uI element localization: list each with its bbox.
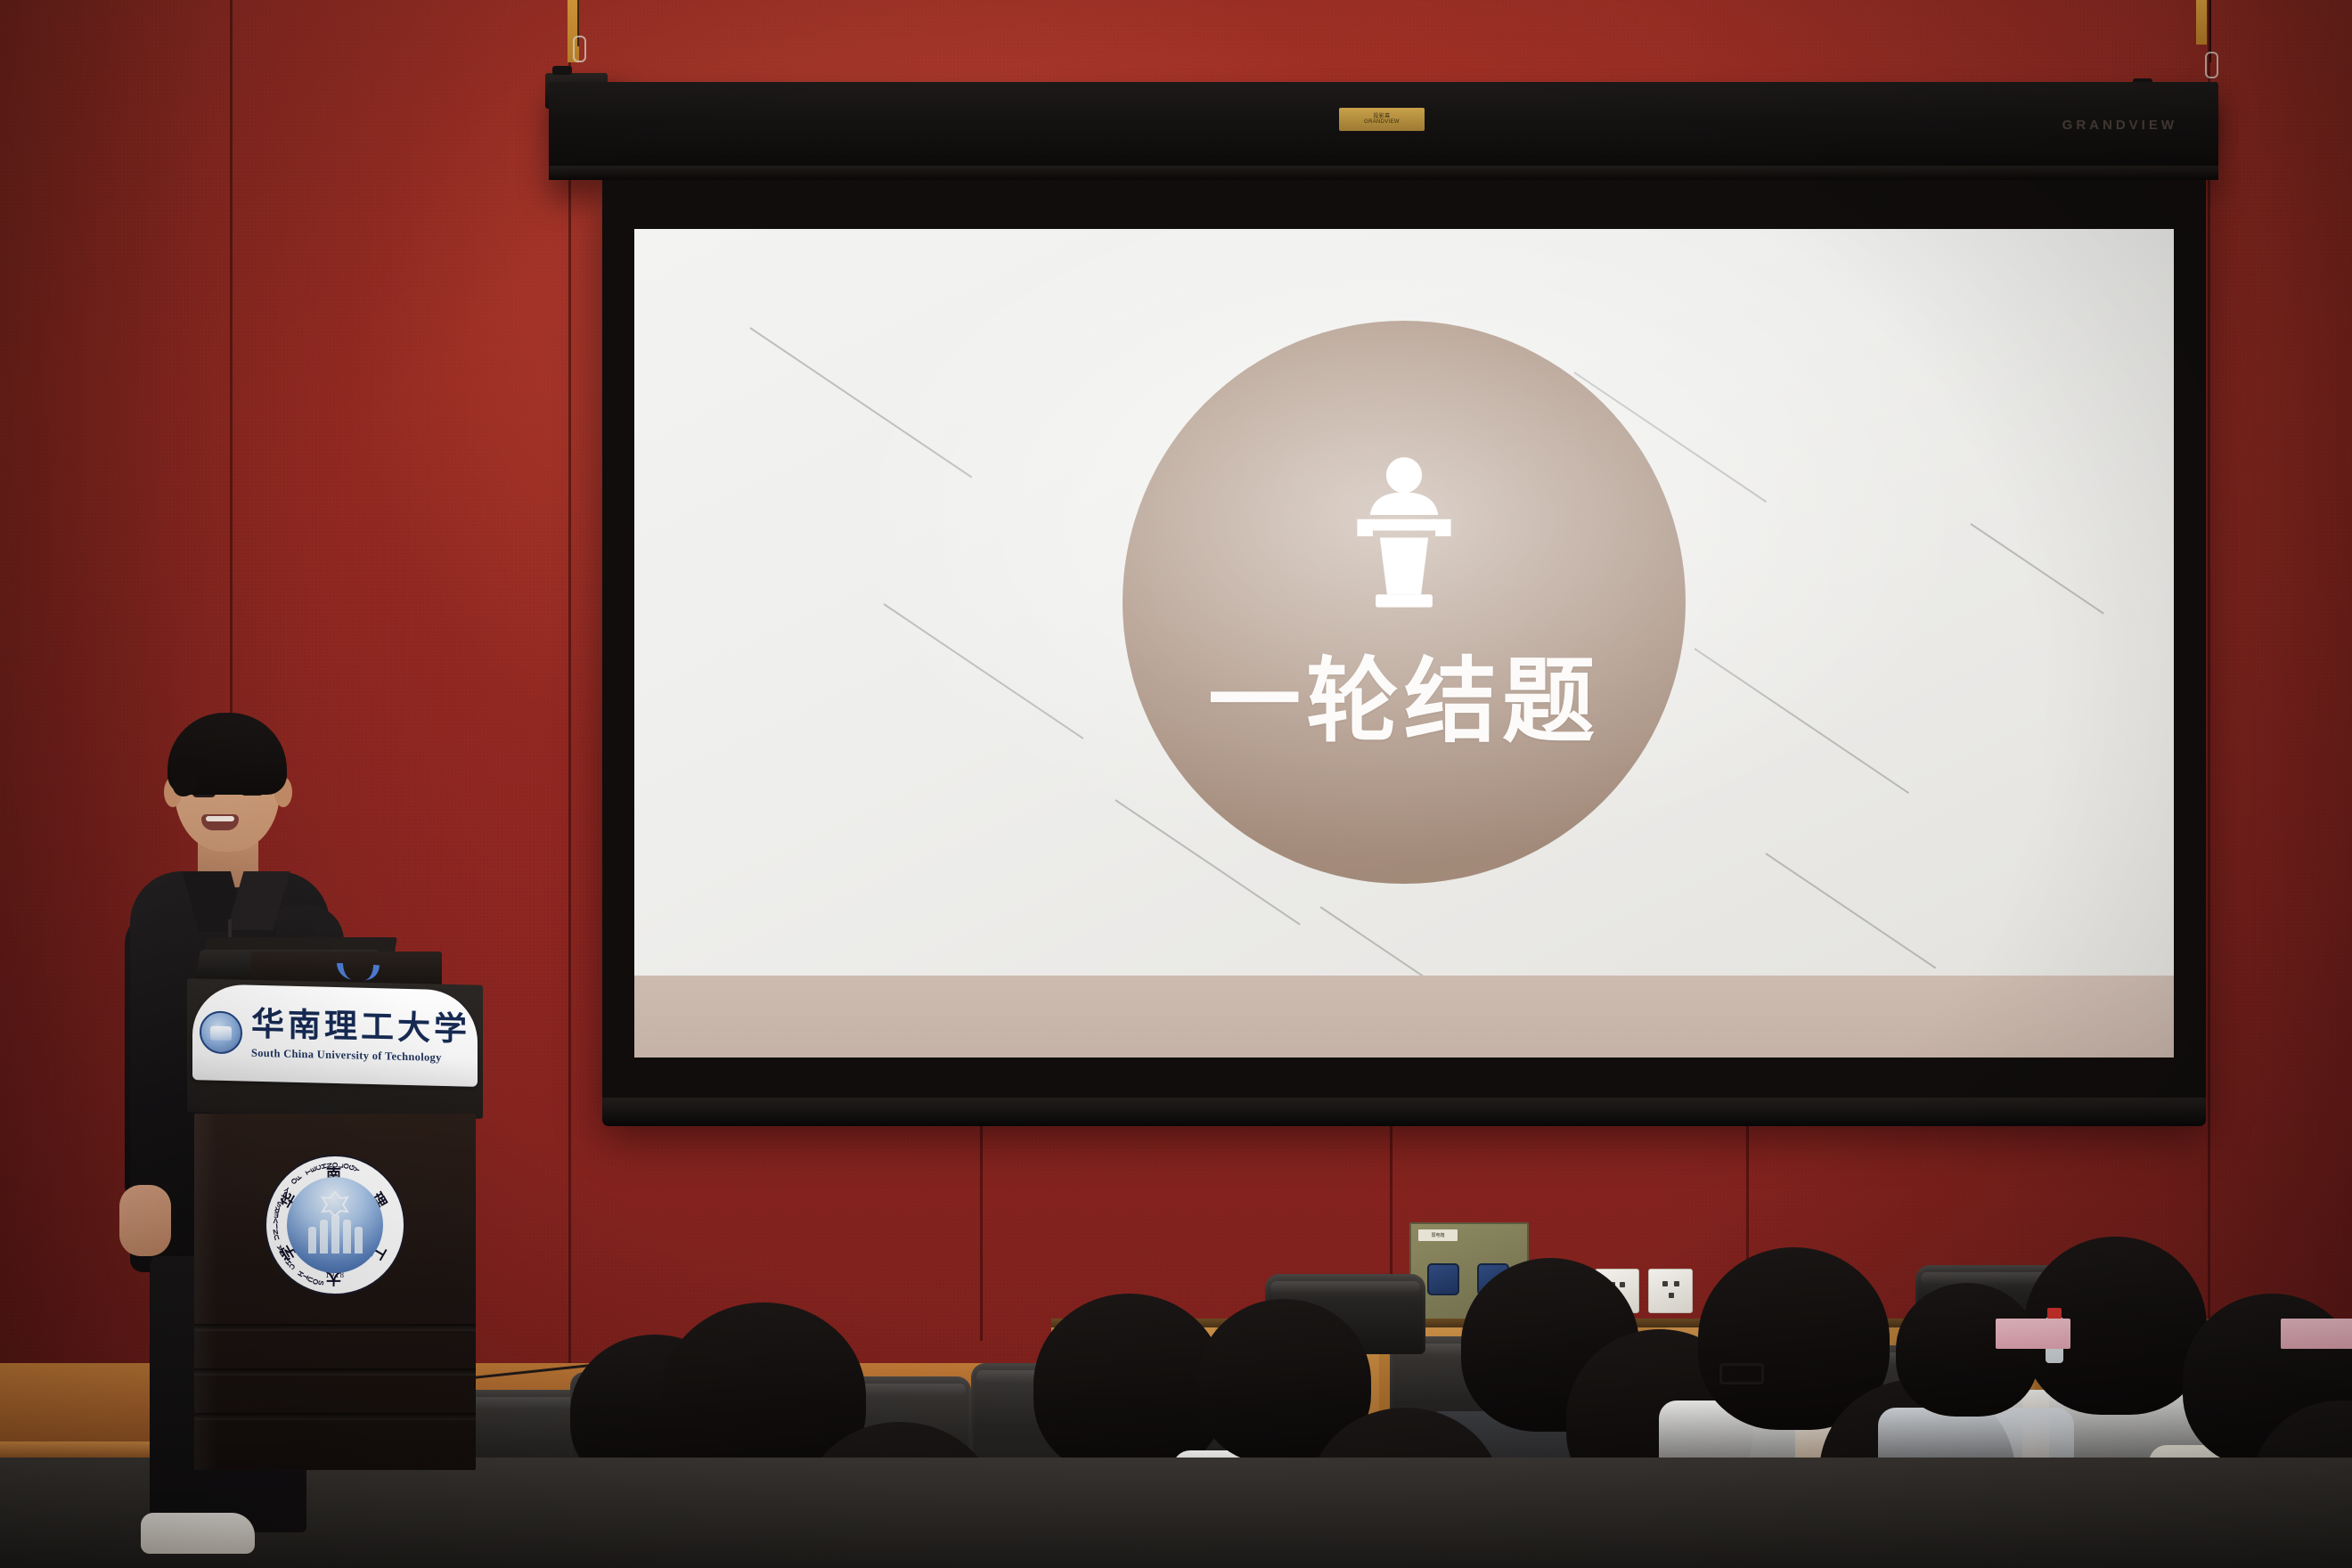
plaque-seal-icon [200,1010,242,1054]
speaker-podium-icon [1333,455,1475,620]
slide-footer-band [634,976,2174,1058]
plaque-chinese-name: 华南理工大学 [251,1008,470,1046]
utility-panel-tag: 弱电箱 [1418,1229,1458,1241]
presenter-left-hand [119,1185,171,1256]
cable-clip [573,36,586,62]
seal-en-char: F [295,1173,304,1182]
lecture-hall-photo: 投影幕 GRANDVIEW GRANDVIEW 一轮结题 弱电箱 [0,0,2352,1568]
slide-deco-line [1765,853,1936,968]
cable-clip [2205,52,2218,78]
wall-seam [2208,0,2210,1390]
slide-surface: 一轮结题 [634,229,2174,1058]
stage-front-face [0,1458,2352,1568]
podium-body: 华南理工大学 SOUTH CHINA UNIVERSITY OF TECHNOL… [194,1114,476,1470]
wall-power-outlet[interactable] [1648,1269,1693,1313]
podium-groove [194,1413,476,1420]
campus-gate-icon [302,1213,368,1254]
network-port[interactable] [1427,1263,1459,1295]
screen-brand-logo: GRANDVIEW [2062,118,2177,133]
audience-member-head [1033,1294,1225,1476]
pink-document-card [1996,1319,2070,1349]
seal-inner-disc [287,1177,383,1273]
gold-trim-strip [2196,0,2207,45]
podium-groove [194,1324,476,1331]
university-seal: 华南理工大学 SOUTH CHINA UNIVERSITY OF TECHNOL… [265,1155,405,1295]
eyeglasses [1719,1363,1764,1384]
seal-en-char: Y [283,1185,291,1195]
presenter-shoe [141,1513,255,1554]
pink-document-card [2281,1319,2352,1349]
slide-deco-line [1694,648,1909,794]
slide-circle-badge: 一轮结题 [1123,321,1686,884]
projector-screen-housing: 投影幕 GRANDVIEW GRANDVIEW [549,82,2218,180]
housing-sticker-label: 投影幕 GRANDVIEW [1339,108,1425,131]
wall-seam [980,1118,983,1341]
presenter-mouth [201,814,239,830]
slide-title: 一轮结题 [1208,656,1600,748]
housing-label-line2: GRANDVIEW [1364,119,1400,125]
podium-groove [194,1368,476,1376]
screen-weight-bar [602,1098,2206,1126]
slide-deco-line [1970,523,2103,614]
presenter-hair [167,713,287,795]
seal-en-char: Y [353,1166,362,1173]
slide-deco-line [749,327,972,478]
audience-member-head [1896,1283,2038,1417]
lectern-podium: 华南理工大学 South China University of Technol… [255,969,584,1468]
plaque-english-name: South China University of Technology [251,1047,442,1063]
university-name-plaque: 华南理工大学 South China University of Technol… [192,984,478,1087]
housing-lip [549,166,2218,180]
projection-screen: 一轮结题 [602,180,2206,1115]
slide-deco-line [883,603,1083,739]
